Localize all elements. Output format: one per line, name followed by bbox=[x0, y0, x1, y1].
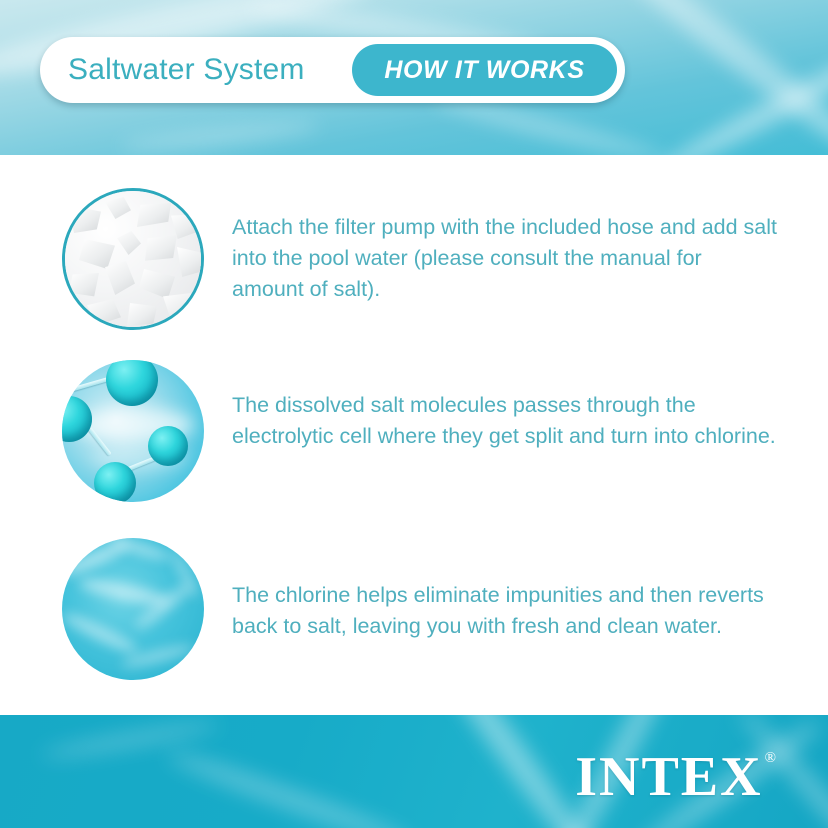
steps-container: Attach the filter pump with the included… bbox=[0, 155, 828, 715]
salt-crystals-photo bbox=[62, 188, 204, 330]
registered-trademark-symbol: ® bbox=[765, 751, 776, 766]
water-caustic-streak bbox=[120, 118, 321, 155]
infographic-page: Saltwater System HOW IT WORKS bbox=[0, 0, 828, 828]
step-item: Attach the filter pump with the included… bbox=[0, 188, 828, 330]
salt-molecules-illustration bbox=[62, 360, 204, 502]
water-caustic-streak bbox=[779, 0, 828, 155]
water-caustic-streak bbox=[589, 0, 828, 155]
pool-water-photo bbox=[62, 538, 204, 680]
molecule-sphere bbox=[148, 426, 188, 466]
footer-banner: INTEX ® bbox=[0, 715, 828, 828]
badge-label: HOW IT WORKS bbox=[384, 56, 584, 85]
how-it-works-badge: HOW IT WORKS bbox=[352, 44, 617, 96]
brand-name: INTEX bbox=[575, 749, 762, 805]
water-caustic-streak bbox=[40, 717, 220, 762]
step-description: The dissolved salt molecules passes thro… bbox=[232, 390, 777, 452]
step-description: Attach the filter pump with the included… bbox=[232, 212, 777, 305]
header-banner: Saltwater System HOW IT WORKS bbox=[0, 0, 828, 155]
step-item: The chlorine helps eliminate impunities … bbox=[0, 538, 828, 680]
title-plate: Saltwater System HOW IT WORKS bbox=[40, 37, 625, 103]
water-caustic-streak bbox=[164, 745, 415, 828]
intex-logo: INTEX ® bbox=[575, 749, 776, 805]
molecule-sphere bbox=[94, 462, 136, 502]
water-caustic-streak bbox=[651, 32, 828, 155]
step-description: The chlorine helps eliminate impunities … bbox=[232, 580, 777, 642]
step-item: The dissolved salt molecules passes thro… bbox=[0, 360, 828, 502]
page-title: Saltwater System bbox=[68, 53, 305, 87]
